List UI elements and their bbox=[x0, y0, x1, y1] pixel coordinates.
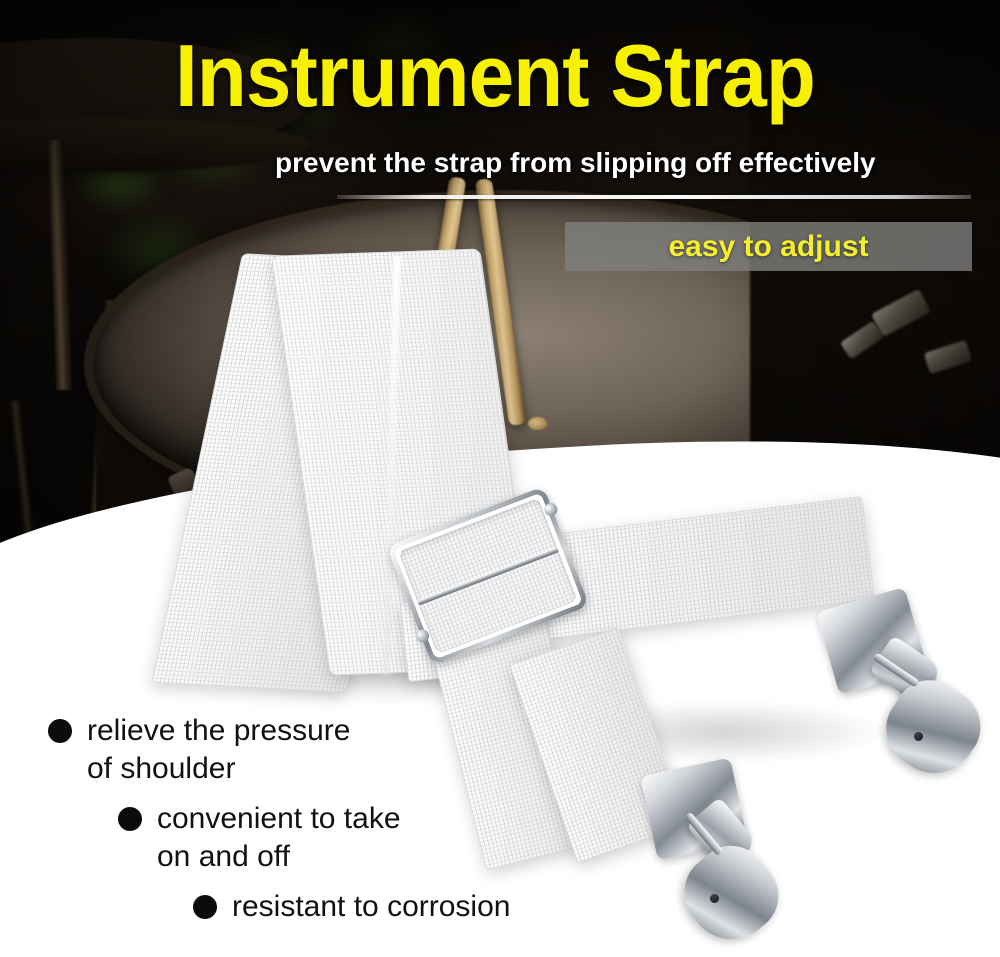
list-item: convenient to take on and off bbox=[118, 800, 401, 876]
bullet-dot-icon bbox=[193, 895, 217, 919]
product-poster: Instrument Strap prevent the strap from … bbox=[0, 0, 1000, 957]
list-item-label: relieve the pressure of shoulder bbox=[87, 712, 350, 788]
list-item: relieve the pressure of shoulder bbox=[48, 712, 350, 788]
bullet-dot-icon bbox=[48, 719, 72, 743]
list-item-label: convenient to take on and off bbox=[157, 800, 401, 876]
list-item-label: resistant to corrosion bbox=[232, 888, 510, 926]
list-item: resistant to corrosion bbox=[193, 888, 510, 926]
feature-list: relieve the pressure of shoulder conveni… bbox=[0, 0, 1000, 957]
bullet-dot-icon bbox=[118, 807, 142, 831]
